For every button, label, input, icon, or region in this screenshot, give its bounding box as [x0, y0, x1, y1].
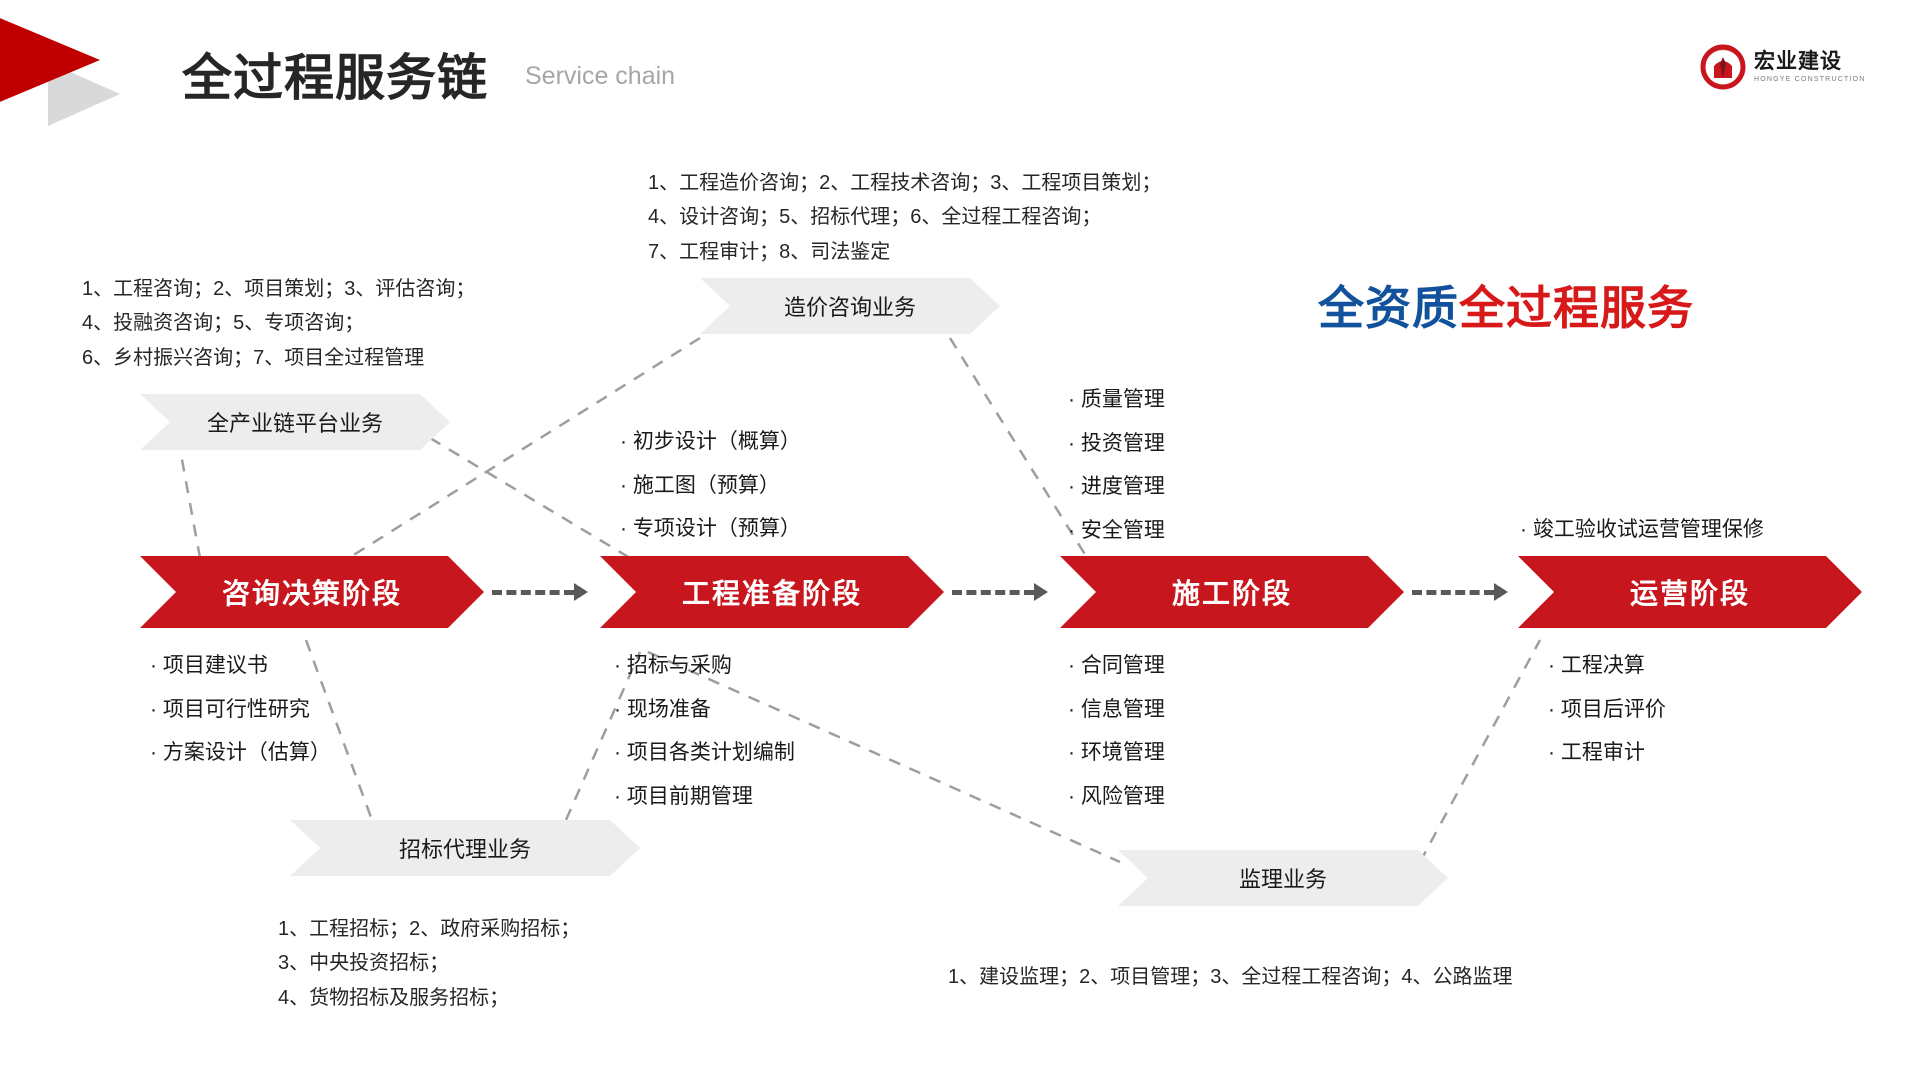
bullet-item: 项目各类计划编制 [614, 731, 795, 775]
bullet-item: 项目后评价 [1548, 688, 1666, 732]
chevron-platform-business[interactable]: 全产业链平台业务 [140, 394, 450, 450]
logo-text: 宏业建设 HONGYE CONSTRUCTION [1754, 51, 1865, 83]
bullets-preparation-bottom: 招标与采购 现场准备 项目各类计划编制 项目前期管理 [614, 644, 795, 819]
stage-arrow-consulting[interactable]: 咨询决策阶段 [140, 556, 484, 628]
note-cost-consulting: 1、工程造价咨询；2、工程技术咨询；3、工程项目策划； 4、设计咨询；5、招标代… [648, 166, 1161, 269]
header-red-arrow [0, 14, 100, 106]
chevron-supervision[interactable]: 监理业务 [1118, 850, 1448, 906]
stage-label: 工程准备阶段 [682, 572, 862, 612]
slide-canvas: 全过程服务链 Service chain 宏业建设 HONGYE CONSTRU… [0, 0, 1920, 1080]
chevron-bidding-agency[interactable]: 招标代理业务 [290, 820, 640, 876]
note-line: 4、投融资咨询；5、专项咨询； [82, 306, 475, 340]
stage-connector-1 [492, 590, 574, 595]
logo-mark-icon [1700, 44, 1746, 90]
stage-connector-2 [952, 590, 1034, 595]
slogan: 全资质全过程服务 [1318, 272, 1694, 338]
bullet-item: 环境管理 [1068, 731, 1165, 775]
bullet-item: 信息管理 [1068, 688, 1165, 732]
bullet-item: 项目建议书 [150, 644, 331, 688]
bullet-item: 合同管理 [1068, 644, 1165, 688]
bullet-item: 进度管理 [1068, 465, 1165, 509]
stage-arrow-construction[interactable]: 施工阶段 [1060, 556, 1404, 628]
note-line: 3、中央投资招标； [278, 946, 580, 980]
bullet-item: 工程决算 [1548, 644, 1666, 688]
bullet-item: 招标与采购 [614, 644, 795, 688]
note-line: 7、工程审计；8、司法鉴定 [648, 235, 1161, 269]
note-line: 1、工程咨询；2、项目策划；3、评估咨询； [82, 272, 475, 306]
stage-connector-3 [1412, 590, 1494, 595]
bullet-item: 专项设计（预算） [620, 507, 801, 551]
note-line: 1、建设监理；2、项目管理；3、全过程工程咨询；4、公路监理 [948, 960, 1513, 994]
bullets-construction-top: 质量管理 投资管理 进度管理 安全管理 [1068, 378, 1165, 553]
note-line: 4、货物招标及服务招标； [278, 981, 580, 1015]
bullets-consulting-bottom: 项目建议书 项目可行性研究 方案设计（估算） [150, 644, 331, 775]
logo-name-en: HONGYE CONSTRUCTION [1754, 76, 1865, 83]
stage-arrow-preparation[interactable]: 工程准备阶段 [600, 556, 944, 628]
note-line: 4、设计咨询；5、招标代理；6、全过程工程咨询； [648, 200, 1161, 234]
stage-label: 施工阶段 [1172, 572, 1292, 612]
chevron-cost-consulting[interactable]: 造价咨询业务 [700, 278, 1000, 334]
bullet-item: 现场准备 [614, 688, 795, 732]
page-title: 全过程服务链 [182, 38, 488, 110]
bullet-item: 施工图（预算） [620, 464, 801, 508]
stage-connector-arrow-2 [1034, 583, 1048, 601]
slogan-red-part: 全过程服务 [1459, 282, 1694, 334]
stage-connector-arrow-3 [1494, 583, 1508, 601]
bullet-item: 风险管理 [1068, 775, 1165, 819]
bullets-operation-bottom: 工程决算 项目后评价 工程审计 [1548, 644, 1666, 775]
stage-connector-arrow-1 [574, 583, 588, 601]
bullet-item: 项目前期管理 [614, 775, 795, 819]
bullets-operation-top: 竣工验收试运营管理保修 [1520, 508, 1764, 552]
bullet-item: 初步设计（概算） [620, 420, 801, 464]
chevron-label: 监理业务 [1239, 862, 1327, 894]
slogan-blue-part: 全资质 [1318, 282, 1459, 334]
bullet-item: 投资管理 [1068, 422, 1165, 466]
note-line: 1、工程招标；2、政府采购招标； [278, 912, 580, 946]
bullet-item: 竣工验收试运营管理保修 [1520, 508, 1764, 552]
chevron-label: 招标代理业务 [399, 832, 531, 864]
bullet-item: 质量管理 [1068, 378, 1165, 422]
note-bidding-agency: 1、工程招标；2、政府采购招标； 3、中央投资招标； 4、货物招标及服务招标； [278, 912, 580, 1015]
chevron-label: 造价咨询业务 [784, 290, 916, 322]
bullet-item: 工程审计 [1548, 731, 1666, 775]
company-logo: 宏业建设 HONGYE CONSTRUCTION [1700, 44, 1865, 90]
note-line: 1、工程造价咨询；2、工程技术咨询；3、工程项目策划； [648, 166, 1161, 200]
stage-label: 运营阶段 [1630, 572, 1750, 612]
bullet-item: 方案设计（估算） [150, 731, 331, 775]
bullets-construction-bottom: 合同管理 信息管理 环境管理 风险管理 [1068, 644, 1165, 819]
page-subtitle: Service chain [525, 62, 675, 91]
bullet-item: 项目可行性研究 [150, 688, 331, 732]
stage-arrow-operation[interactable]: 运营阶段 [1518, 556, 1862, 628]
bullets-design-mid: 初步设计（概算） 施工图（预算） 专项设计（预算） [620, 420, 801, 551]
note-line: 6、乡村振兴咨询；7、项目全过程管理 [82, 341, 475, 375]
logo-name-cn: 宏业建设 [1754, 51, 1865, 72]
note-supervision: 1、建设监理；2、项目管理；3、全过程工程咨询；4、公路监理 [948, 960, 1513, 994]
stage-label: 咨询决策阶段 [222, 572, 402, 612]
bullet-item: 安全管理 [1068, 509, 1165, 553]
note-platform-business: 1、工程咨询；2、项目策划；3、评估咨询； 4、投融资咨询；5、专项咨询； 6、… [82, 272, 475, 375]
chevron-label: 全产业链平台业务 [207, 406, 383, 438]
